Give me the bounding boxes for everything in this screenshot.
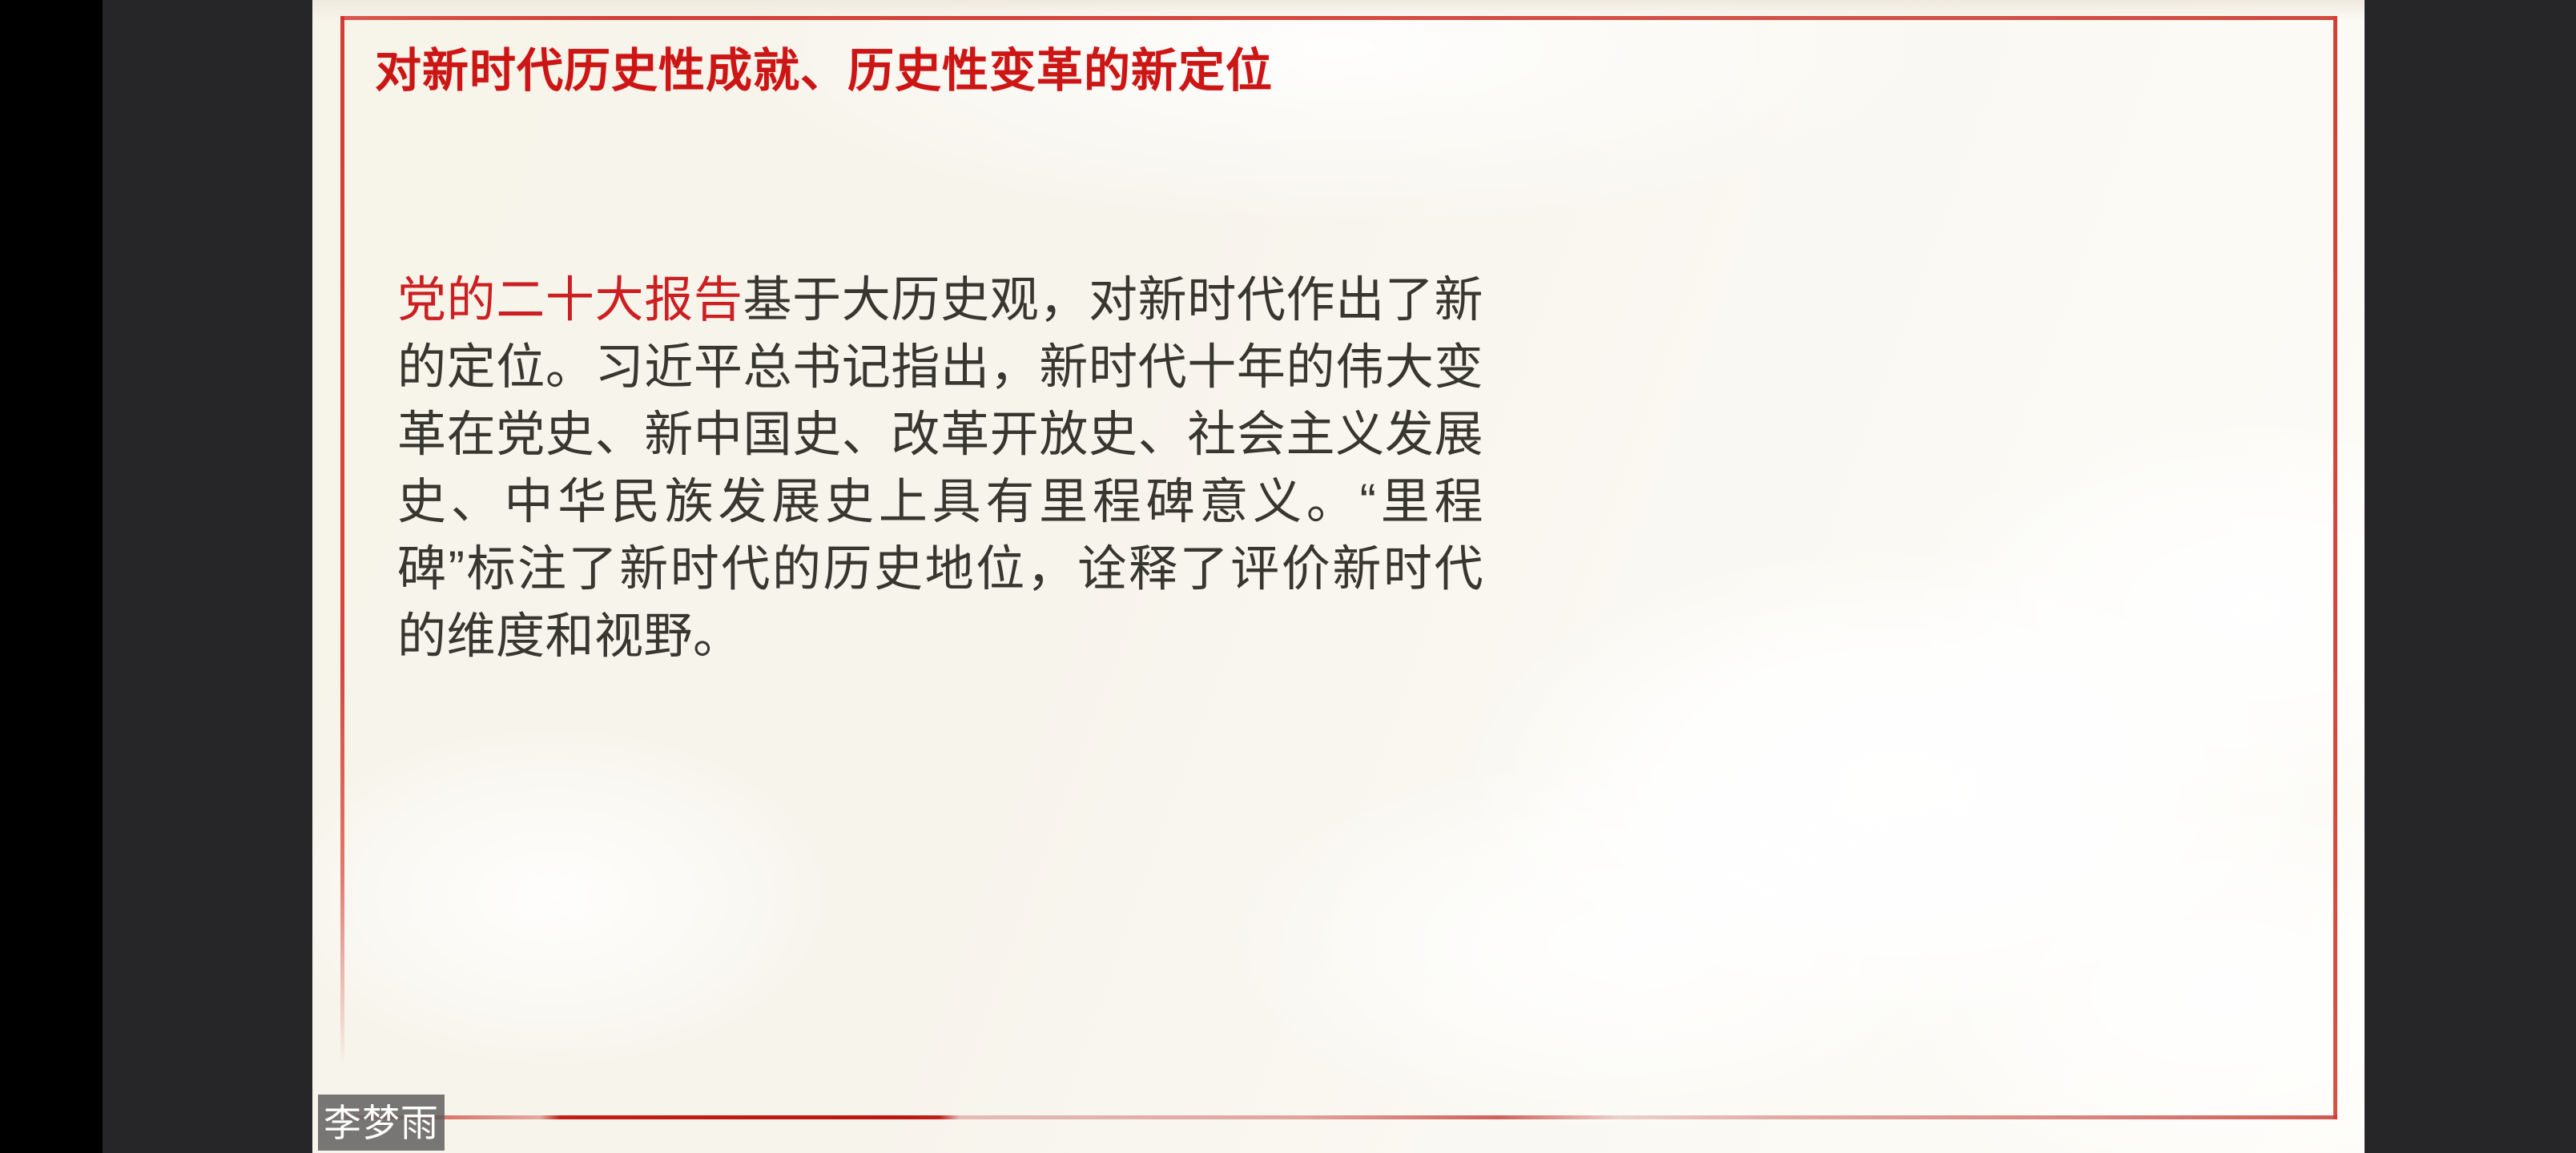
letterbox-right [2365,0,2576,1153]
slide-frame-right-border [2333,16,2337,1119]
slide-body-accent-phrase: 党的二十大报告 [397,272,743,327]
letterbox-left [103,0,312,1153]
slide-frame-bottom-border [340,1115,2337,1119]
slide-title: 对新时代历史性成就、历史性变革的新定位 [375,45,2137,98]
slide-frame-top-border [340,16,2333,20]
slide-body-rest-text: 基于大历史观，对新时代作出了新的定位。习近平总书记指出，新时代十年的伟大变革在党… [397,272,1483,663]
slide-body-paragraph: 党的二十大报告基于大历史观，对新时代作出了新的定位。习近平总书记指出，新时代十年… [397,266,1483,669]
participant-name-label: 李梦雨 [324,1104,439,1142]
slide-top-fade [312,0,2365,21]
slide-frame-left-border [340,16,344,1065]
participant-name-badge: 李梦雨 [318,1095,445,1151]
screen-share-stage: 对新时代历史性成就、历史性变革的新定位 党的二十大报告基于大历史观，对新时代作出… [0,0,2576,1153]
presentation-slide: 对新时代历史性成就、历史性变革的新定位 党的二十大报告基于大历史观，对新时代作出… [312,0,2365,1153]
